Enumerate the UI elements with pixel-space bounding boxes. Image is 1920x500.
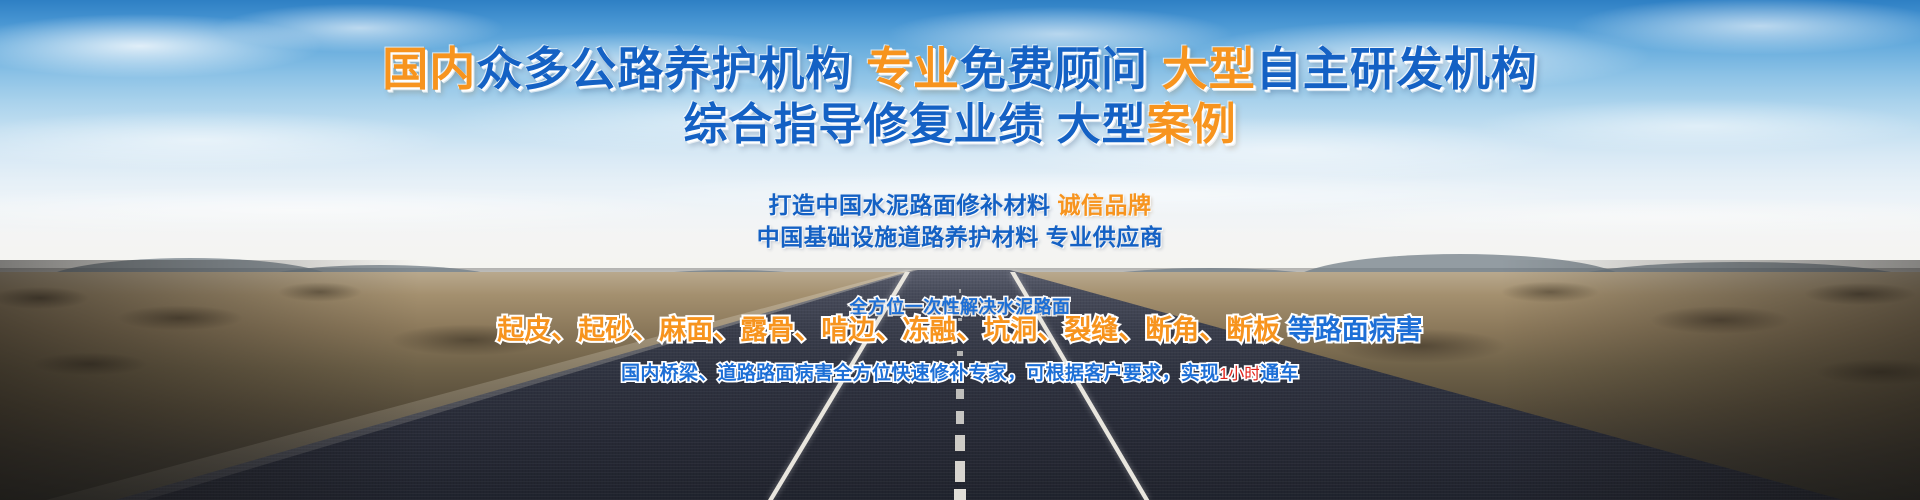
lane-dash-10	[954, 489, 966, 500]
headline2-segment-1	[1043, 100, 1056, 149]
subhead2-segment-1	[1039, 224, 1046, 250]
headline1-segment-3: 专业	[866, 43, 960, 95]
headline2-segment-2: 大型	[1057, 100, 1147, 149]
headline1-segment-7: 自主研发机构	[1256, 43, 1538, 95]
lane-dash-4	[957, 351, 962, 357]
roadline3-segment-0: 国内桥梁、道路路面病害全方位快速修补专家，可根据客户要求，实现	[621, 363, 1219, 384]
lane-dash-8	[955, 435, 964, 451]
roadline3-segment-1: 1小时	[1219, 366, 1260, 383]
headline1-segment-1: 众多公路养护机构	[476, 43, 852, 95]
headline-line-1: 国内众多公路养护机构 专业免费顾问 大型自主研发机构	[0, 44, 1920, 96]
roadline2-segment-2: 等路面病害	[1288, 315, 1423, 345]
lane-dash-7	[956, 411, 964, 424]
subhead2-segment-2: 专业供应商	[1046, 224, 1164, 250]
roadline2-segment-0: 起皮、起砂、麻面、露骨、啃边、冻融、坑洞、裂缝、断角、断板	[497, 315, 1280, 345]
headline1-segment-2	[852, 43, 866, 95]
subhead-line-2: 中国基础设施道路养护材料 专业供应商	[0, 222, 1920, 253]
road-text-line-3: 国内桥梁、道路路面病害全方位快速修补专家，可根据客户要求，实现1小时通车	[0, 358, 1920, 385]
road-headline-small: 全方位一次性解决水泥路面	[850, 297, 1071, 317]
lane-dash-6	[956, 389, 963, 399]
headline-line-2: 综合指导修复业绩 大型案例	[0, 100, 1920, 149]
headline2-segment-3: 案例	[1147, 100, 1237, 149]
roadline2-segment-1	[1280, 315, 1288, 345]
headline1-segment-6: 大型	[1162, 43, 1256, 95]
lane-dash-9	[955, 461, 965, 482]
road-text-line-2: 起皮、起砂、麻面、露骨、啃边、冻融、坑洞、裂缝、断角、断板 等路面病害	[0, 316, 1920, 346]
subhead1-segment-0: 打造中国水泥路面修补材料	[769, 192, 1051, 218]
headline2-segment-0: 综合指导修复业绩	[683, 100, 1043, 149]
subhead2-segment-0: 中国基础设施道路养护材料	[757, 224, 1039, 250]
roadline3-segment-2: 通车	[1260, 363, 1299, 384]
subhead1-segment-2: 诚信品牌	[1057, 192, 1151, 218]
headline1-segment-0: 国内	[382, 43, 476, 95]
headline1-segment-5	[1148, 43, 1162, 95]
subhead-line-1: 打造中国水泥路面修补材料 诚信品牌	[0, 190, 1920, 221]
promotional-banner: 国内众多公路养护机构 专业免费顾问 大型自主研发机构 综合指导修复业绩 大型案例…	[0, 0, 1920, 500]
headline1-segment-4: 免费顾问	[960, 43, 1148, 95]
